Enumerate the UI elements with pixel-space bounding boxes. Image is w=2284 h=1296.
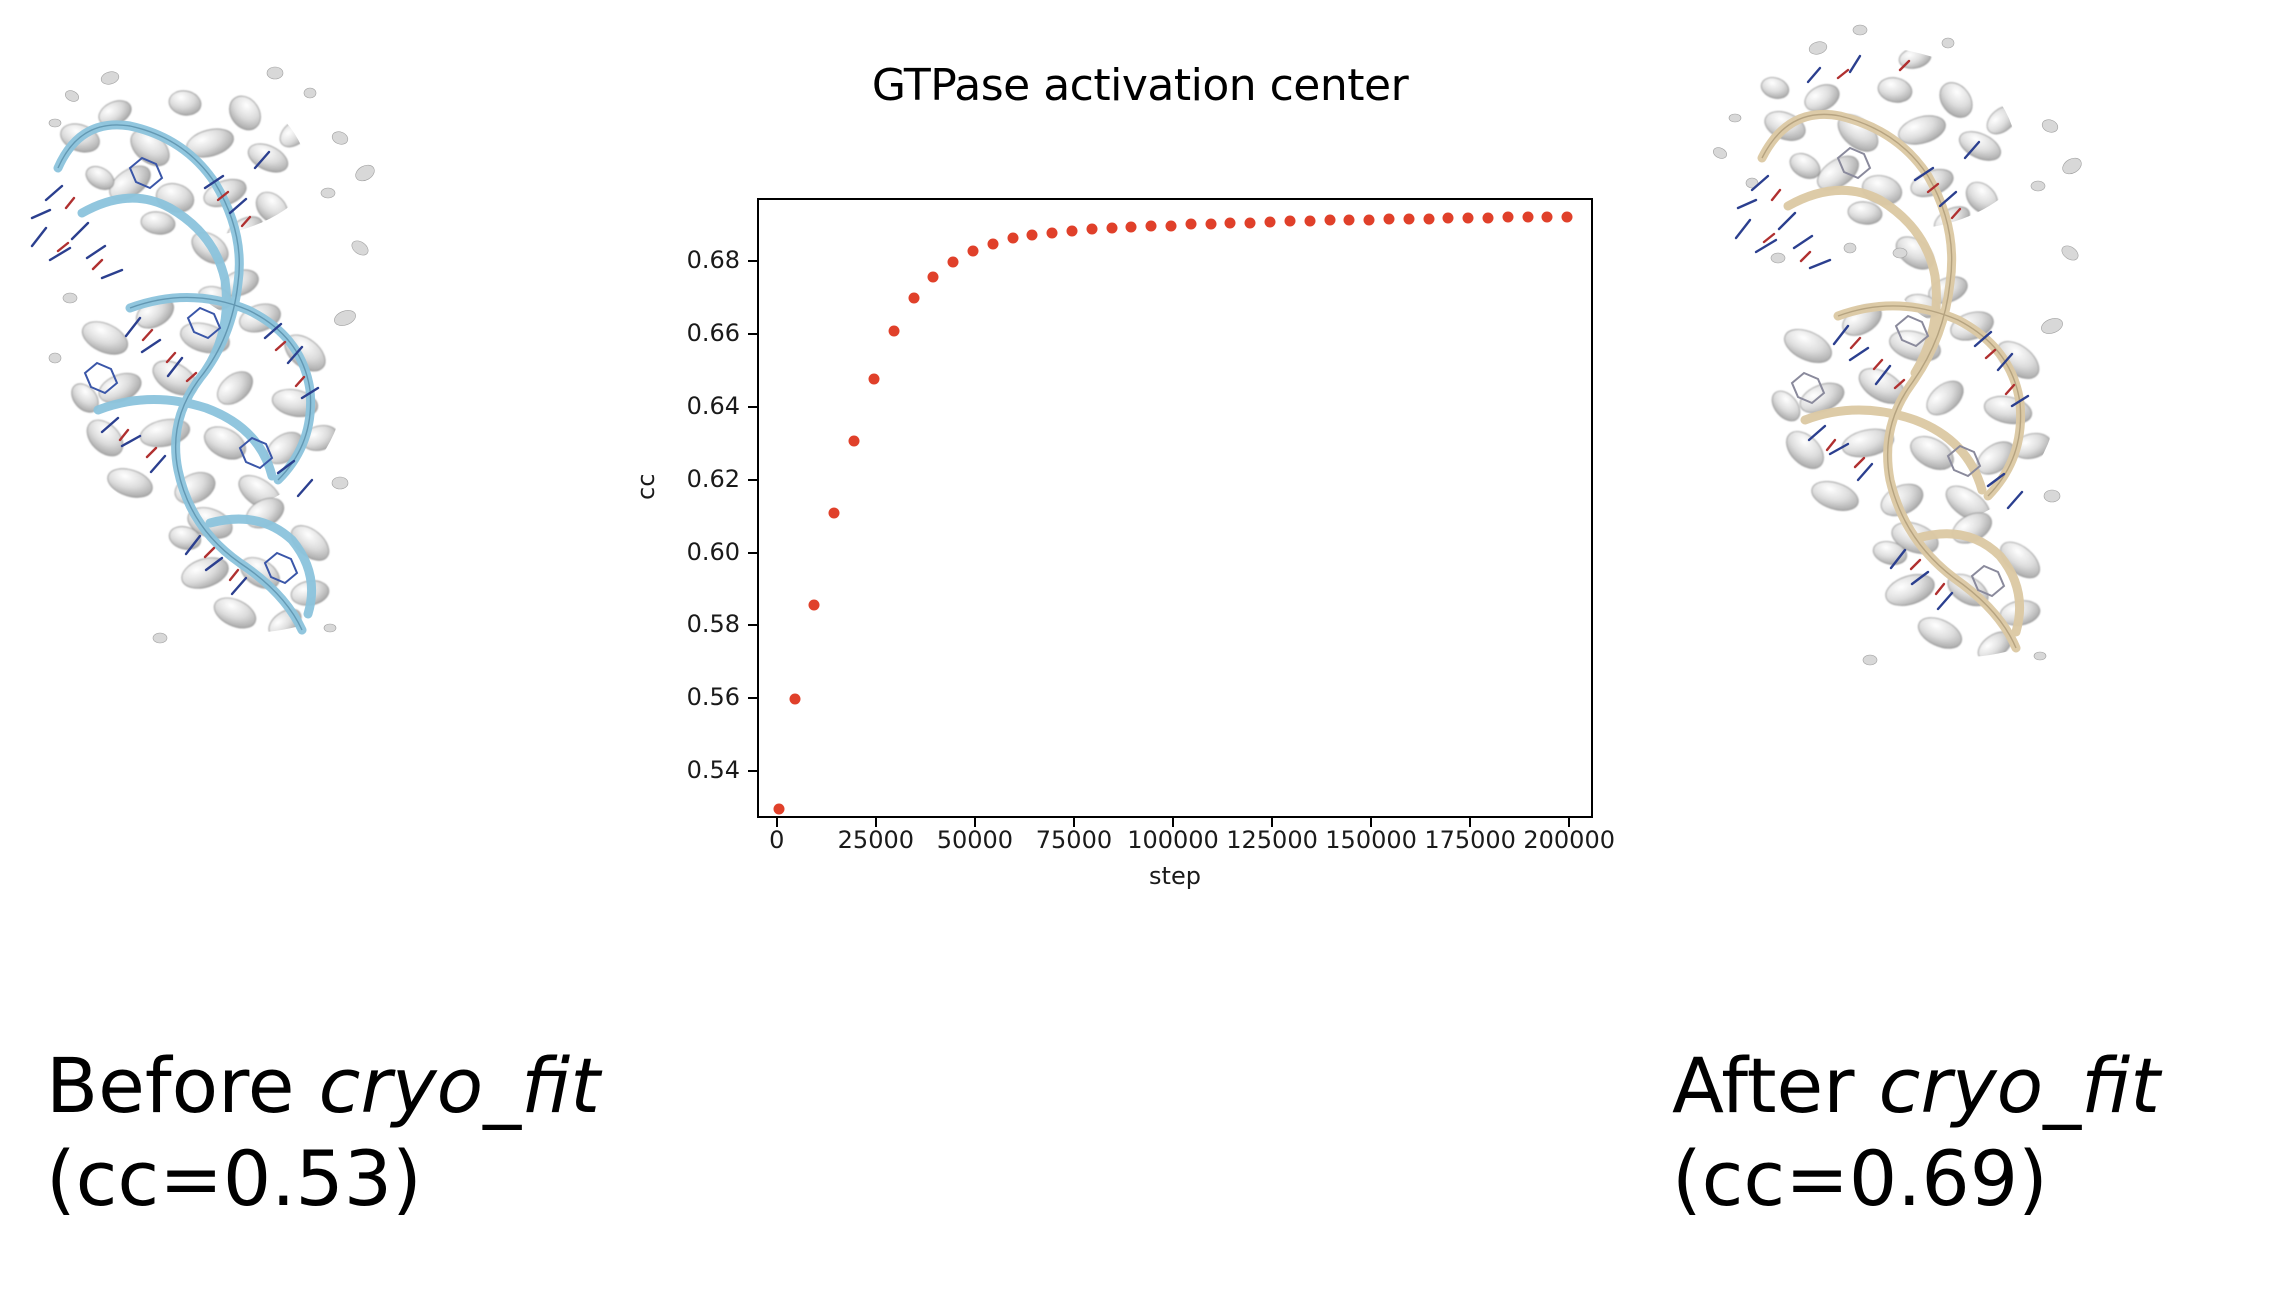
caption-after: After cryo_fit (cc=0.69) [1672, 1040, 2160, 1225]
caption-before-cc: (cc=0.53) [46, 1133, 600, 1226]
y-tick-mark [748, 770, 757, 772]
data-point [948, 256, 959, 267]
x-tick-label: 50000 [937, 826, 1013, 854]
data-point [849, 435, 860, 446]
data-point [1482, 212, 1493, 223]
y-tick-label: 0.60 [687, 538, 740, 566]
data-point [1502, 212, 1513, 223]
caption-before-prefix: Before [46, 1041, 319, 1130]
y-tick-mark [748, 552, 757, 554]
y-tick-label: 0.64 [687, 392, 740, 420]
data-point [1265, 216, 1276, 227]
data-point [1126, 221, 1137, 232]
cryoem-density-after-svg [1700, 8, 2260, 688]
y-axis-tick-labels: 0.540.560.580.600.620.640.660.68 [640, 198, 740, 818]
x-tick-label: 100000 [1127, 826, 1219, 854]
data-point [928, 271, 939, 282]
data-point [1047, 227, 1058, 238]
x-tick-label: 25000 [838, 826, 914, 854]
data-point [1007, 233, 1018, 244]
data-point [1423, 213, 1434, 224]
data-point [888, 326, 899, 337]
data-point [908, 293, 919, 304]
data-point [1383, 214, 1394, 225]
molecule-render-before [10, 18, 550, 658]
y-tick-mark [748, 406, 757, 408]
data-point [1284, 216, 1295, 227]
data-point [1364, 214, 1375, 225]
data-point [1522, 212, 1533, 223]
y-tick-label: 0.62 [687, 465, 740, 493]
y-tick-label: 0.54 [687, 756, 740, 784]
cryoem-density-before-svg [10, 18, 550, 658]
data-point [1344, 215, 1355, 226]
data-point [1304, 215, 1315, 226]
plot-area [757, 198, 1593, 818]
data-point [1443, 213, 1454, 224]
y-tick-mark [748, 479, 757, 481]
data-point [1245, 217, 1256, 228]
data-point [967, 246, 978, 257]
chart-title: GTPase activation center [640, 60, 1640, 111]
data-point [987, 238, 998, 249]
caption-after-tool: cryo_fit [1879, 1041, 2160, 1130]
caption-after-line1: After cryo_fit [1672, 1041, 2160, 1130]
x-axis-ticks: 0250005000075000100000125000150000175000… [757, 818, 1593, 868]
data-point [1066, 225, 1077, 236]
caption-after-prefix: After [1672, 1041, 1879, 1130]
data-point [1027, 229, 1038, 240]
y-tick-label: 0.68 [687, 246, 740, 274]
caption-before: Before cryo_fit (cc=0.53) [46, 1040, 600, 1225]
x-tick-label: 0 [769, 826, 784, 854]
caption-after-cc: (cc=0.69) [1672, 1133, 2160, 1226]
data-point [1146, 220, 1157, 231]
molecule-render-after [1700, 8, 2260, 688]
data-point [1463, 212, 1474, 223]
data-point [1324, 215, 1335, 226]
y-tick-mark [748, 624, 757, 626]
data-point [809, 599, 820, 610]
x-tick-label: 125000 [1226, 826, 1318, 854]
x-axis-label: step [757, 862, 1593, 890]
data-point [1542, 212, 1553, 223]
data-point [1086, 224, 1097, 235]
data-point [1562, 212, 1573, 223]
data-point [868, 373, 879, 384]
caption-before-line1: Before cryo_fit [46, 1041, 600, 1130]
x-tick-label: 200000 [1523, 826, 1615, 854]
data-point [1403, 213, 1414, 224]
y-tick-label: 0.58 [687, 610, 740, 638]
data-point [1106, 223, 1117, 234]
data-point [829, 508, 840, 519]
y-axis-label: cc [632, 474, 660, 500]
x-tick-label: 150000 [1325, 826, 1417, 854]
data-point [1166, 220, 1177, 231]
cc-vs-step-chart: GTPase activation center 0.540.560.580.6… [640, 30, 1640, 910]
data-point [1185, 219, 1196, 230]
y-tick-mark [748, 333, 757, 335]
data-point [789, 694, 800, 705]
x-tick-label: 75000 [1036, 826, 1112, 854]
data-point [1205, 218, 1216, 229]
x-tick-label: 175000 [1424, 826, 1516, 854]
data-point [1225, 217, 1236, 228]
y-tick-label: 0.66 [687, 319, 740, 347]
caption-before-tool: cryo_fit [319, 1041, 600, 1130]
y-tick-label: 0.56 [687, 683, 740, 711]
y-tick-mark [748, 260, 757, 262]
y-tick-mark [748, 697, 757, 699]
data-point [773, 803, 784, 814]
